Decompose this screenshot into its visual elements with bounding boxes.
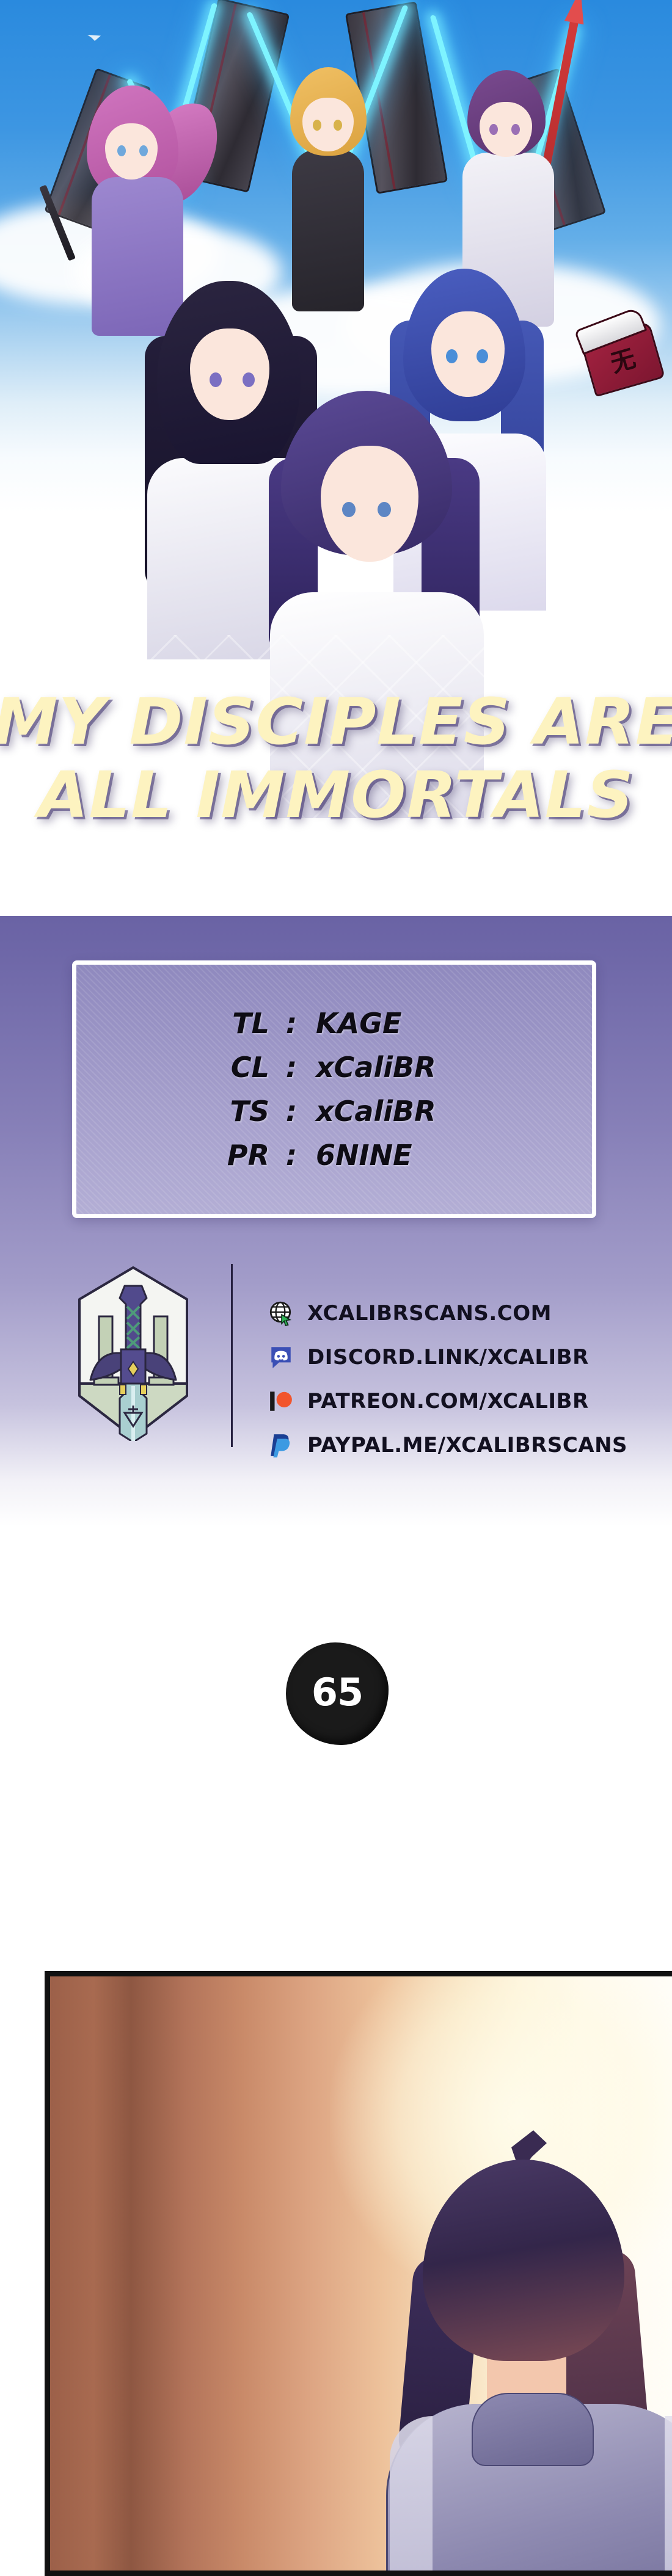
webtoon-page: 无 MY DI (0, 0, 672, 2576)
social-links-list: XCALIBRSCANS.COM DISCORD.LINK/XCALIBR (268, 1264, 627, 1458)
credit-name: xCaliBR (310, 1095, 469, 1128)
patreon-icon (268, 1388, 294, 1414)
robe-highlight (390, 2416, 433, 2576)
paypal-icon (268, 1432, 294, 1458)
vertical-divider (231, 1264, 233, 1447)
hair (423, 2160, 624, 2361)
eye (139, 145, 148, 156)
credit-name: 6NINE (310, 1139, 469, 1172)
credits-table: TL : KAGE CL : xCaliBR TS : xCaliBR PR :… (200, 1007, 469, 1172)
eye (477, 349, 488, 363)
robe-collar (472, 2393, 594, 2466)
link-discord[interactable]: DISCORD.LINK/XCALIBR (268, 1344, 627, 1370)
eye (489, 124, 498, 135)
character-blonde-girl (269, 67, 385, 311)
discord-icon (268, 1344, 294, 1370)
link-website[interactable]: XCALIBRSCANS.COM (268, 1301, 627, 1326)
credit-name: xCaliBR (310, 1051, 469, 1084)
cover-banner: 无 MY DI (0, 0, 672, 1526)
credit-colon: : (273, 1095, 310, 1128)
eye (210, 372, 222, 387)
book-glyph: 无 (606, 339, 639, 380)
link-paypal[interactable]: PAYPAL.ME/XCALIBRSCANS (268, 1432, 627, 1458)
credit-colon: : (273, 1007, 310, 1040)
series-title: MY DISCIPLES ARE ALL IMMORTALS (0, 690, 672, 827)
link-discord-label: DISCORD.LINK/XCALIBR (307, 1345, 589, 1370)
eye (446, 349, 458, 363)
robe-highlight (665, 2416, 672, 2576)
link-website-label: XCALIBRSCANS.COM (307, 1301, 552, 1326)
eye (342, 502, 356, 517)
eye (511, 124, 520, 135)
title-line-1: MY DISCIPLES ARE (0, 690, 672, 753)
chapter-number: 65 (312, 1670, 363, 1714)
credit-role: TL (200, 1007, 273, 1040)
link-patreon[interactable]: PATREON.COM/XCALIBR (268, 1388, 627, 1414)
credit-colon: : (273, 1139, 310, 1172)
chapter-number-badge: 65 (286, 1642, 389, 1745)
eye (378, 502, 391, 517)
character-back-view (380, 2160, 672, 2576)
xcalibr-sword-emblem (72, 1264, 194, 1441)
credits-box: TL : KAGE CL : xCaliBR TS : xCaliBR PR :… (72, 960, 596, 1218)
credit-role: CL (200, 1051, 273, 1084)
credit-name: KAGE (310, 1007, 469, 1040)
credit-role: TS (200, 1095, 273, 1128)
eye (243, 372, 255, 387)
eye (334, 120, 342, 131)
credit-role: PR (200, 1139, 273, 1172)
title-line-2: ALL IMMORTALS (0, 763, 672, 827)
scanlation-footer: XCALIBRSCANS.COM DISCORD.LINK/XCALIBR (72, 1264, 610, 1459)
link-paypal-label: PAYPAL.ME/XCALIBRSCANS (307, 1433, 627, 1457)
globe-icon (268, 1301, 294, 1326)
credit-colon: : (273, 1051, 310, 1084)
link-patreon-label: PATREON.COM/XCALIBR (307, 1389, 589, 1413)
eye (313, 120, 321, 131)
comic-panel-1 (45, 1971, 672, 2576)
eye (117, 145, 126, 156)
